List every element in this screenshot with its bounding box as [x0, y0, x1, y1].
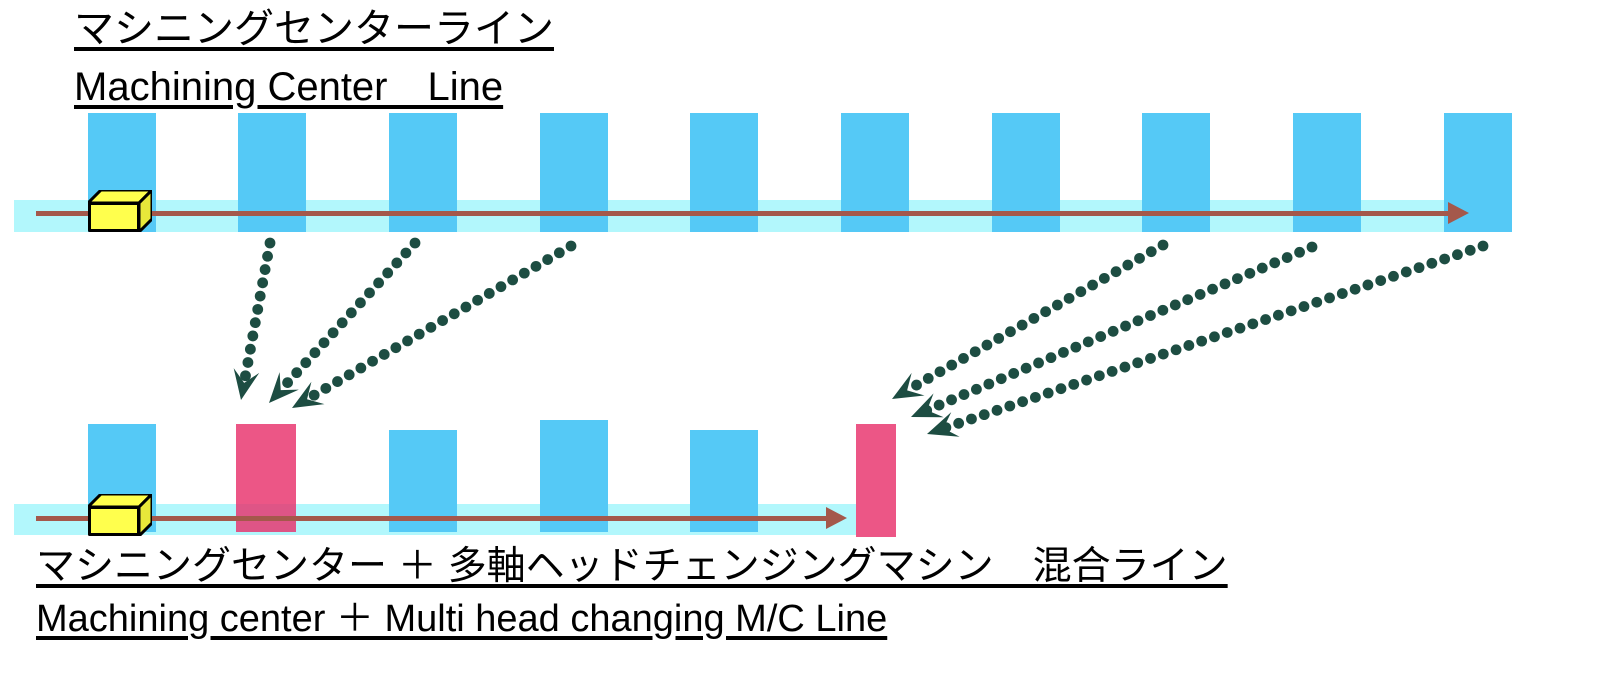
- arrowhead-icon: [927, 412, 960, 437]
- top-workpiece-box: [88, 190, 152, 232]
- bottom-flow-arrowhead-icon: [826, 507, 847, 529]
- bottom-machine-6-multi-head-changing: [856, 424, 896, 537]
- annotation-arrow-right-1: [892, 240, 1168, 399]
- top-flow-arrowhead-icon: [1448, 202, 1469, 224]
- bottom-line-title-english: Machining center ＋ Multi head changing M…: [36, 600, 887, 640]
- top-line-title-japanese: マシニングセンターライン: [74, 8, 554, 50]
- arrowhead-icon: [269, 372, 299, 403]
- annotation-arrow-left-3: [292, 241, 576, 408]
- diagram-canvas: マシニングセンターライン Machining Center Line マシニング…: [0, 0, 1616, 676]
- annotation-arrow-right-2: [911, 242, 1317, 418]
- arrowhead-icon: [892, 373, 925, 399]
- annotation-arrow-right-3: [927, 241, 1488, 437]
- annotation-arrow-left-1: [234, 238, 276, 400]
- arrowhead-icon: [292, 382, 324, 408]
- top-line-title-english: Machining Center Line: [74, 66, 503, 108]
- bottom-flow-line: [36, 516, 826, 521]
- top-flow-line: [36, 211, 1448, 216]
- arrowhead-icon: [234, 368, 260, 400]
- annotation-arrow-left-2: [269, 238, 420, 403]
- arrowhead-icon: [911, 393, 944, 417]
- bottom-workpiece-box: [88, 494, 152, 536]
- bottom-line-title-japanese: マシニングセンター ＋ 多軸ヘッドチェンジングマシン 混合ライン: [36, 547, 1228, 588]
